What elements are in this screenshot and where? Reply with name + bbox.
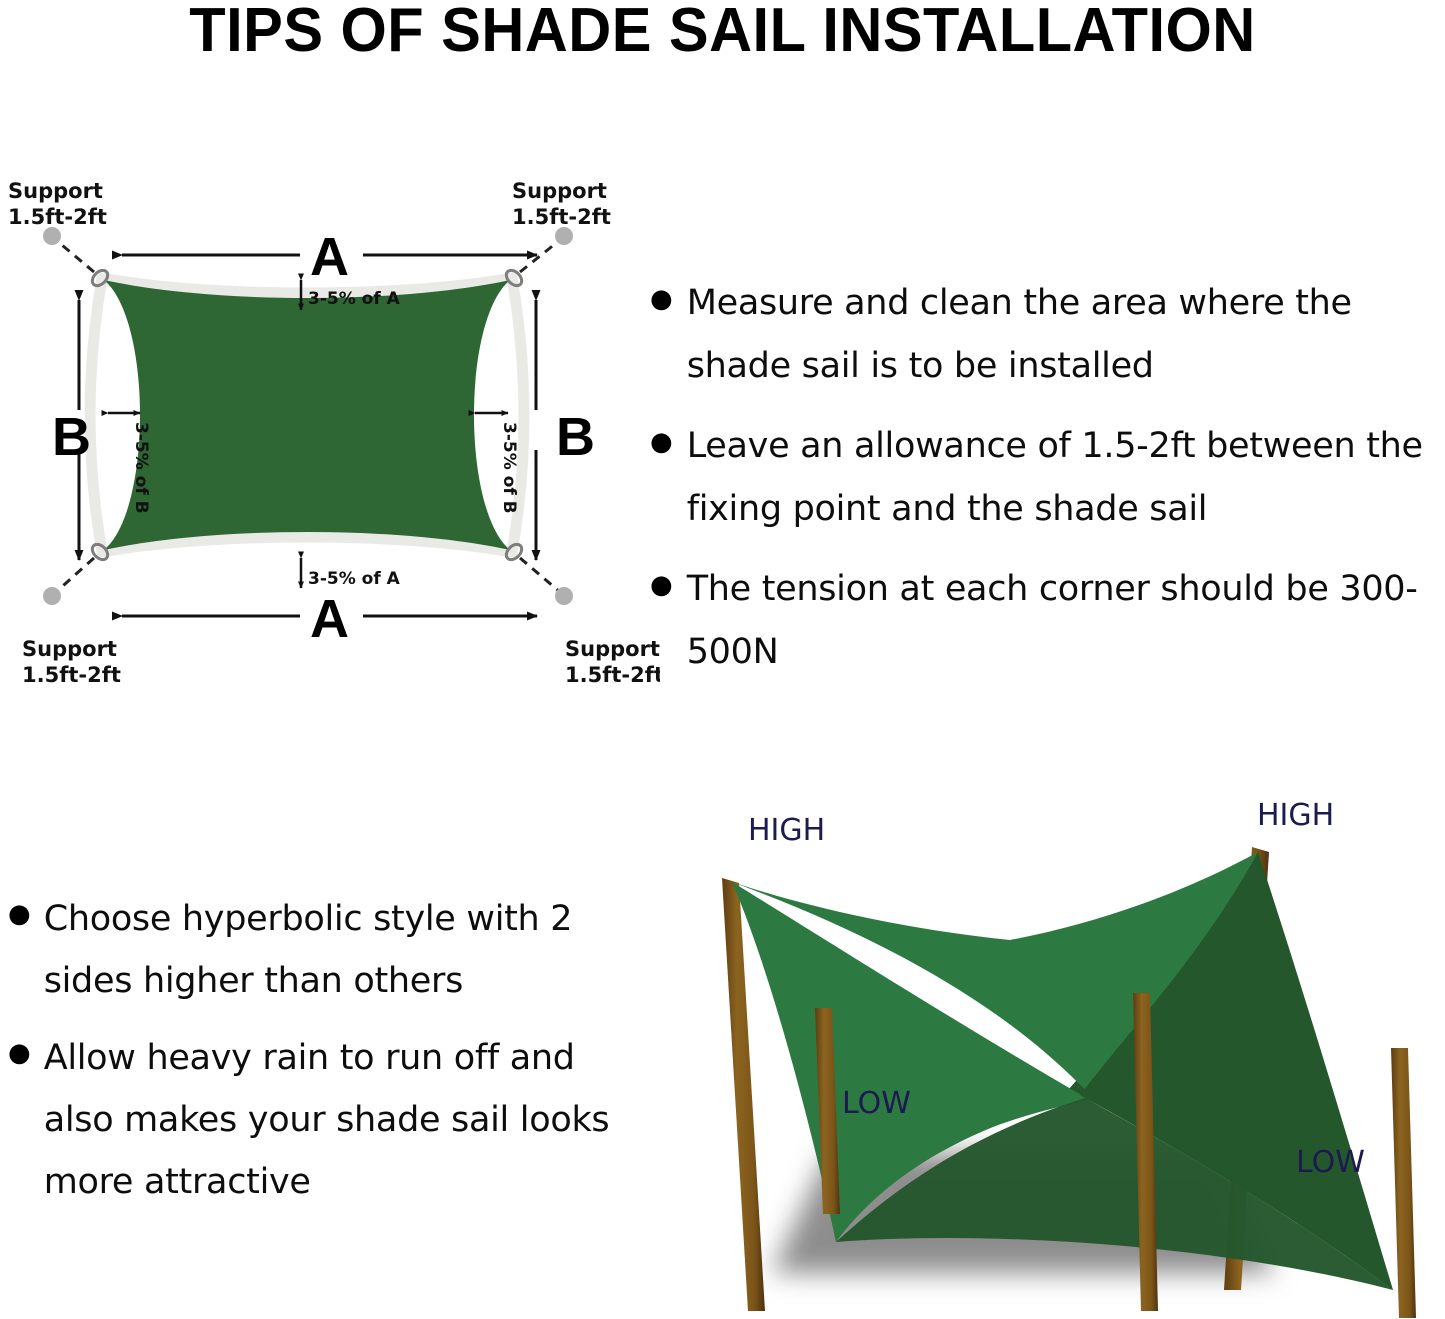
- dimension-b-left: B: [52, 300, 91, 560]
- label-low-right: LOW: [1296, 1145, 1365, 1180]
- support-bottom-right-line2: 1.5ft-2ft: [565, 663, 660, 687]
- anchor-dot-top-left: [43, 227, 61, 245]
- anchor-dot-bottom-left: [43, 587, 61, 605]
- dimension-a-bottom-label: A: [310, 589, 349, 649]
- list-item-text: Measure and clean the area where the sha…: [687, 272, 1445, 398]
- tips-of-shade-sail-installation-infographic: TIPS OF SHADE SAIL INSTALLATION: [0, 0, 1445, 1319]
- curvature-right-label: 3-5% of B: [499, 422, 519, 514]
- hyperbolic-sail-diagram: HIGH HIGH LOW LOW: [660, 790, 1445, 1319]
- rectangular-sail-diagram: Support 1.5ft-2ft Support 1.5ft-2ft Supp…: [0, 160, 660, 720]
- list-item: ● Measure and clean the area where the s…: [650, 272, 1445, 398]
- curvature-bottom-label: 3-5% of A: [308, 569, 401, 589]
- bullet-dot-icon: ●: [650, 286, 673, 312]
- list-item-text: Choose hyperbolic style with 2 sides hig…: [44, 888, 628, 1012]
- list-item-text: Allow heavy rain to run off and also mak…: [44, 1027, 628, 1213]
- tether-bottom-left: [56, 558, 94, 592]
- list-item: ● Leave an allowance of 1.5-2ft between …: [650, 415, 1445, 541]
- dimension-a-bottom: A: [122, 589, 537, 649]
- dimension-b-right-label: B: [556, 407, 595, 467]
- support-bottom-left-line2: 1.5ft-2ft: [22, 663, 121, 687]
- post-low-right-body: [1391, 1048, 1416, 1318]
- dimension-b-right: B: [536, 300, 595, 560]
- support-top-right-line2: 1.5ft-2ft: [512, 205, 611, 229]
- bullet-dot-icon: ●: [650, 429, 673, 455]
- support-bottom-left-line1: Support: [22, 637, 117, 661]
- curvature-left-label: 3-5% of B: [131, 422, 151, 514]
- installation-tips-list-top: ● Measure and clean the area where the s…: [650, 272, 1445, 701]
- bullet-dot-icon: ●: [8, 1040, 31, 1066]
- dimension-a-top-label: A: [310, 227, 349, 287]
- anchor-dot-top-right: [555, 227, 573, 245]
- dimension-b-left-label: B: [52, 407, 91, 467]
- support-label-top-left: Support 1.5ft-2ft: [8, 179, 107, 229]
- support-label-bottom-right: Support 1.5ft-2ft: [565, 637, 660, 687]
- list-item-text: The tension at each corner should be 300…: [687, 558, 1445, 684]
- tether-bottom-right: [520, 558, 560, 592]
- curvature-bottom: 3-5% of A: [301, 558, 401, 589]
- label-high-right: HIGH: [1257, 798, 1334, 833]
- bullet-dot-icon: ●: [8, 901, 31, 927]
- list-item-text: Leave an allowance of 1.5-2ft between th…: [687, 415, 1445, 541]
- shade-sail-body: [104, 280, 510, 550]
- support-top-right-line1: Support: [512, 179, 607, 203]
- installation-tips-list-bottom: ● Choose hyperbolic style with 2 sides h…: [8, 888, 628, 1228]
- support-top-left-line1: Support: [8, 179, 103, 203]
- support-bottom-right-line1: Support: [565, 637, 660, 661]
- label-high-left: HIGH: [748, 813, 825, 848]
- bullet-dot-icon: ●: [650, 572, 673, 598]
- support-label-top-right: Support 1.5ft-2ft: [512, 179, 611, 229]
- label-low-left: LOW: [842, 1086, 911, 1121]
- tether-top-left: [56, 240, 94, 272]
- page-title: TIPS OF SHADE SAIL INSTALLATION: [29, 0, 1416, 64]
- curvature-left: 3-5% of B: [108, 413, 151, 514]
- list-item: ● Allow heavy rain to run off and also m…: [8, 1027, 628, 1213]
- anchor-dot-bottom-right: [555, 587, 573, 605]
- list-item: ● The tension at each corner should be 3…: [650, 558, 1445, 684]
- dimension-a-top: A: [122, 227, 537, 287]
- support-top-left-line2: 1.5ft-2ft: [8, 205, 107, 229]
- support-label-bottom-left: Support 1.5ft-2ft: [22, 637, 121, 687]
- curvature-top-label: 3-5% of A: [308, 289, 401, 309]
- list-item: ● Choose hyperbolic style with 2 sides h…: [8, 888, 628, 1012]
